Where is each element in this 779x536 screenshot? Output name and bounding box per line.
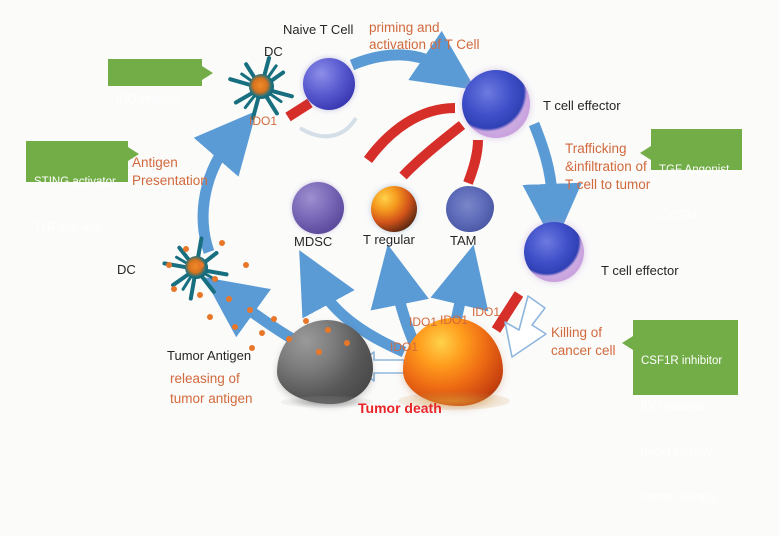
antigen-dot — [303, 318, 309, 324]
label-tumor-antigen: Tumor Antigen — [167, 348, 251, 364]
label-releasing-line2: tumor antigen — [170, 391, 253, 407]
cell-tam — [446, 186, 494, 232]
antigen-dot — [271, 316, 277, 322]
decor-swoosh — [300, 118, 356, 136]
antigen-dot — [344, 340, 350, 346]
inhibit-bar-treg — [403, 125, 462, 176]
antigen-dot — [171, 286, 177, 292]
label-priming-line1: priming and — [369, 20, 440, 36]
label-ido1-mid-a: IDO1 — [409, 315, 437, 330]
antigen-dot — [316, 349, 322, 355]
cell-mdsc — [292, 182, 344, 234]
label-ido1-mid-b: IDO1 — [440, 313, 468, 328]
antigen-dot — [226, 296, 232, 302]
callout-ido-inhibitor-tail — [202, 66, 213, 80]
inhibit-bar-tam — [468, 140, 478, 183]
callout-line: IDO inhibitor — [641, 400, 730, 415]
callout-line: CSF1R inhibitor — [641, 354, 730, 369]
callout-line: chemo therapy — [641, 491, 730, 506]
cell-t-effector-bottom — [524, 222, 584, 282]
antigen-dot — [286, 336, 292, 342]
label-trafficking-line3: T cell to tumor — [565, 177, 650, 193]
antigen-dot — [183, 246, 189, 252]
label-priming-line2: activation of T Cell — [369, 37, 480, 53]
callout-line: CXCR4 — [659, 209, 734, 224]
diagram-canvas: IDO inhibitor STING activator TLR activa… — [0, 0, 779, 487]
callout-tgf-cxcr4-tail — [640, 146, 651, 160]
inhibit-bar-mdsc — [368, 108, 455, 160]
label-antigen-presentation-line2: Presentation — [132, 173, 208, 189]
callout-line: IDO inhibitor — [116, 93, 194, 108]
label-releasing-line1: releasing of — [170, 371, 240, 387]
cell-t-regular — [371, 186, 417, 232]
label-ido1-left: IDO1 — [390, 340, 418, 355]
arrow-priming — [352, 55, 445, 69]
label-tumor-death: Tumor death — [358, 400, 442, 417]
antigen-dot — [232, 324, 238, 330]
label-t-cell-effector-top: T cell effector — [543, 98, 621, 114]
label-dc-bottom: DC — [117, 262, 136, 278]
label-naive-t-cell: Naive T Cell — [283, 22, 353, 38]
label-antigen-presentation-line1: Antigen — [132, 155, 178, 171]
callout-line: target therapy — [641, 445, 730, 460]
antigen-dot — [197, 292, 203, 298]
callout-line: TGF Angonist — [659, 163, 734, 178]
antigen-dot — [259, 330, 265, 336]
antigen-dot — [325, 327, 331, 333]
label-ido1-right: IDO1 — [472, 305, 500, 320]
antigen-dot — [219, 240, 225, 246]
tumor-antigen-mass — [277, 320, 373, 404]
callout-csf1r-combo-tail — [622, 336, 633, 350]
callout-ido-inhibitor[interactable]: IDO inhibitor — [108, 59, 202, 86]
label-ido1-dc: IDO1 — [249, 114, 277, 129]
callout-sting-tlr[interactable]: STING activator TLR activator — [26, 141, 128, 182]
label-trafficking-line1: Trafficking — [565, 141, 627, 157]
antigen-dot — [243, 262, 249, 268]
label-mdsc: MDSC — [294, 234, 332, 250]
antigen-dot — [166, 262, 172, 268]
callout-line: TLR activator — [34, 221, 120, 236]
cell-naive-t — [303, 58, 355, 110]
arrow-killing-hollow — [505, 296, 546, 357]
callout-csf1r-combo[interactable]: CSF1R inhibitor IDO inhibitor target the… — [633, 320, 738, 395]
antigen-dot — [247, 307, 253, 313]
label-tam: TAM — [450, 233, 476, 249]
callout-line: STING activator — [34, 175, 120, 190]
antigen-dot — [207, 314, 213, 320]
arrow-trafficking — [534, 124, 553, 208]
label-trafficking-line2: &infiltration of — [565, 159, 647, 175]
label-t-cell-effector-bottom: T cell effector — [601, 263, 679, 279]
antigen-dot — [198, 262, 204, 268]
cell-t-effector-top — [462, 70, 530, 138]
label-killing-line1: Killing of — [551, 325, 602, 341]
callout-tgf-cxcr4[interactable]: TGF Angonist CXCR4 — [651, 129, 742, 170]
label-t-regular: T regular — [363, 232, 415, 248]
label-dc-top: DC — [264, 44, 283, 60]
label-killing-line2: cancer cell — [551, 343, 616, 359]
antigen-dot — [212, 276, 218, 282]
